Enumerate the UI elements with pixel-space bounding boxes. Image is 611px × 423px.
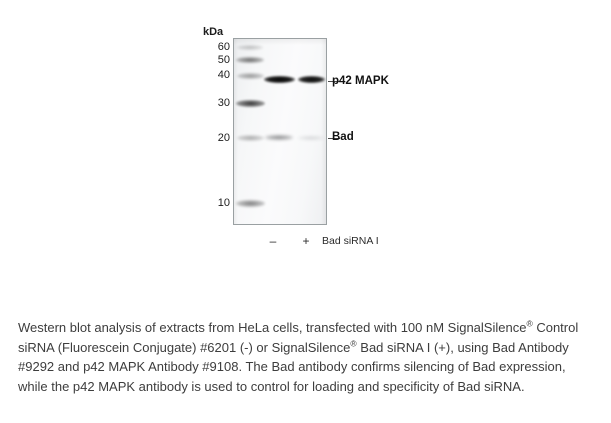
band-ladder-30	[236, 100, 265, 107]
marker-label-10: 10	[190, 198, 230, 209]
band-ladder-10	[236, 200, 265, 207]
lane-label-plus: +	[299, 234, 313, 248]
kda-axis-title: kDa	[203, 26, 223, 38]
marker-label-50: 50	[190, 55, 230, 66]
band-ladder-60	[237, 45, 263, 50]
figure-caption: Western blot analysis of extracts from H…	[18, 318, 592, 396]
band-p42-mapk-minus	[264, 76, 295, 83]
marker-label-30: 30	[190, 98, 230, 109]
band-ladder-50	[236, 57, 264, 63]
band-bad-plus	[298, 136, 324, 140]
band-ladder-20	[237, 135, 264, 141]
marker-label-60: 60	[190, 42, 230, 53]
annotation-p42-mapk: p42 MAPK	[332, 75, 389, 87]
annotation-bad: Bad	[332, 131, 354, 143]
caption-part-1: Western blot analysis of extracts from H…	[18, 320, 526, 335]
lane-label-minus: –	[266, 234, 280, 248]
marker-label-40: 40	[190, 70, 230, 81]
band-ladder-40	[237, 73, 264, 79]
western-blot-figure: kDa 60 50 40 30 20 10 p42 MAPK Bad – + B…	[0, 0, 611, 300]
blot-membrane	[233, 38, 327, 225]
band-p42-mapk-plus	[298, 76, 325, 83]
lane-caption: Bad siRNA I	[322, 235, 379, 247]
band-bad-minus	[265, 135, 293, 140]
marker-label-20: 20	[190, 133, 230, 144]
